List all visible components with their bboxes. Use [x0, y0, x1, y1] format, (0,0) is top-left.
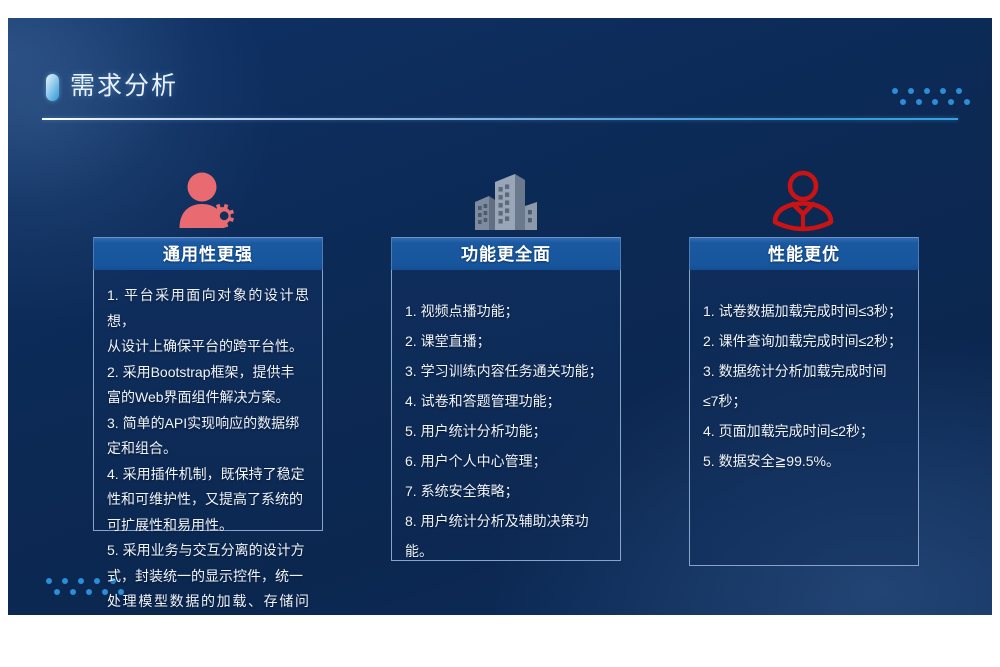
- card-body-line: 5. 采用业务与交互分离的设计方: [107, 538, 309, 564]
- card-header-title: 通用性更强: [93, 237, 323, 270]
- card-body: 1. 视频点播功能； 2. 课堂直播； 3. 学习训练内容任务通关功能； 4. …: [391, 270, 621, 561]
- slide-frame: 需求分析: [0, 0, 1000, 667]
- dot: [94, 578, 100, 584]
- dot: [916, 99, 922, 105]
- card-body: 1. 试卷数据加载完成时间≤3秒； 2. 课件查询加载完成时间≤2秒； 3. 数…: [689, 270, 919, 566]
- card-body-line: 1. 平台采用面向对象的设计思想，: [107, 283, 309, 334]
- dot: [948, 99, 954, 105]
- card-body-line: 从设计上确保平台的跨平台性。: [107, 334, 309, 360]
- card-body-line: 4. 页面加载完成时间≤2秒；: [703, 416, 905, 446]
- card-body-line: 3. 数据统计分析加载完成时间: [703, 356, 905, 386]
- dot: [956, 88, 962, 94]
- card-body-line: 6. 用户个人中心管理；: [405, 446, 607, 476]
- dot: [86, 589, 92, 595]
- card-body-line: 7. 系统安全策略；: [405, 476, 607, 506]
- slide-header: 需求分析: [42, 63, 958, 121]
- card-body-line: 1. 试卷数据加载完成时间≤3秒；: [703, 296, 905, 326]
- dot: [70, 589, 76, 595]
- dot: [924, 88, 930, 94]
- card-body-line: 2. 课堂直播；: [405, 326, 607, 356]
- card-body-line: 可扩展性和易用性。: [107, 513, 309, 539]
- card-header-title: 功能更全面: [391, 237, 621, 270]
- feature-card-generality: 通用性更强 1. 平台采用面向对象的设计思想， 从设计上确保平台的跨平台性。 2…: [93, 237, 323, 531]
- card-body-line: 2. 采用Bootstrap框架，提供丰: [107, 360, 309, 386]
- card-body-line: 8. 用户统计分析及辅助决策功: [405, 506, 607, 536]
- buildings-icon: [460, 170, 550, 232]
- card-body-line: 定和组合。: [107, 436, 309, 462]
- card-body-line: 富的Web界面组件解决方案。: [107, 385, 309, 411]
- card-body-line: ≤7秒；: [703, 386, 905, 416]
- card-body-line: 1. 视频点播功能；: [405, 296, 607, 326]
- card-body-line: 3. 学习训练内容任务通关功能；: [405, 356, 607, 386]
- feature-card-functionality: 功能更全面 1. 视频点播功能； 2. 课堂直播； 3. 学习训练内容任务通关功…: [391, 237, 621, 561]
- feature-card-performance: 性能更优 1. 试卷数据加载完成时间≤3秒； 2. 课件查询加载完成时间≤2秒；…: [689, 237, 919, 566]
- user-settings-icon: [163, 170, 253, 232]
- dot: [908, 88, 914, 94]
- dot: [62, 578, 68, 584]
- pill-bullet-icon: [46, 74, 59, 101]
- dot: [78, 578, 84, 584]
- dot: [964, 99, 970, 105]
- header-divider: [42, 118, 958, 120]
- card-body-line: 4. 采用插件机制，既保持了稳定: [107, 462, 309, 488]
- dot: [940, 88, 946, 94]
- dot: [900, 99, 906, 105]
- dot: [54, 589, 60, 595]
- card-body-line: 5. 用户统计分析功能；: [405, 416, 607, 446]
- card-body-line: 处理模型数据的加载、存储问题。: [107, 589, 309, 615]
- dot: [892, 88, 898, 94]
- card-body: 1. 平台采用面向对象的设计思想， 从设计上确保平台的跨平台性。 2. 采用Bo…: [93, 270, 323, 531]
- card-body-line: 3. 简单的API实现响应的数据绑: [107, 411, 309, 437]
- card-body-line: 2. 课件查询加载完成时间≤2秒；: [703, 326, 905, 356]
- card-body-line: 5. 数据安全≧99.5%。: [703, 446, 905, 476]
- card-body-line: 能。: [405, 536, 607, 566]
- page-title: 需求分析: [70, 66, 178, 102]
- card-body-line: 4. 试卷和答题管理功能；: [405, 386, 607, 416]
- dot: [932, 99, 938, 105]
- card-body-line: 式，封装统一的显示控件，统一: [107, 564, 309, 590]
- dot: [46, 578, 52, 584]
- card-header-title: 性能更优: [689, 237, 919, 270]
- card-body-line: 性和可维护性，又提高了系统的: [107, 487, 309, 513]
- slide-canvas: 需求分析: [8, 18, 992, 615]
- person-suit-icon: [758, 170, 848, 232]
